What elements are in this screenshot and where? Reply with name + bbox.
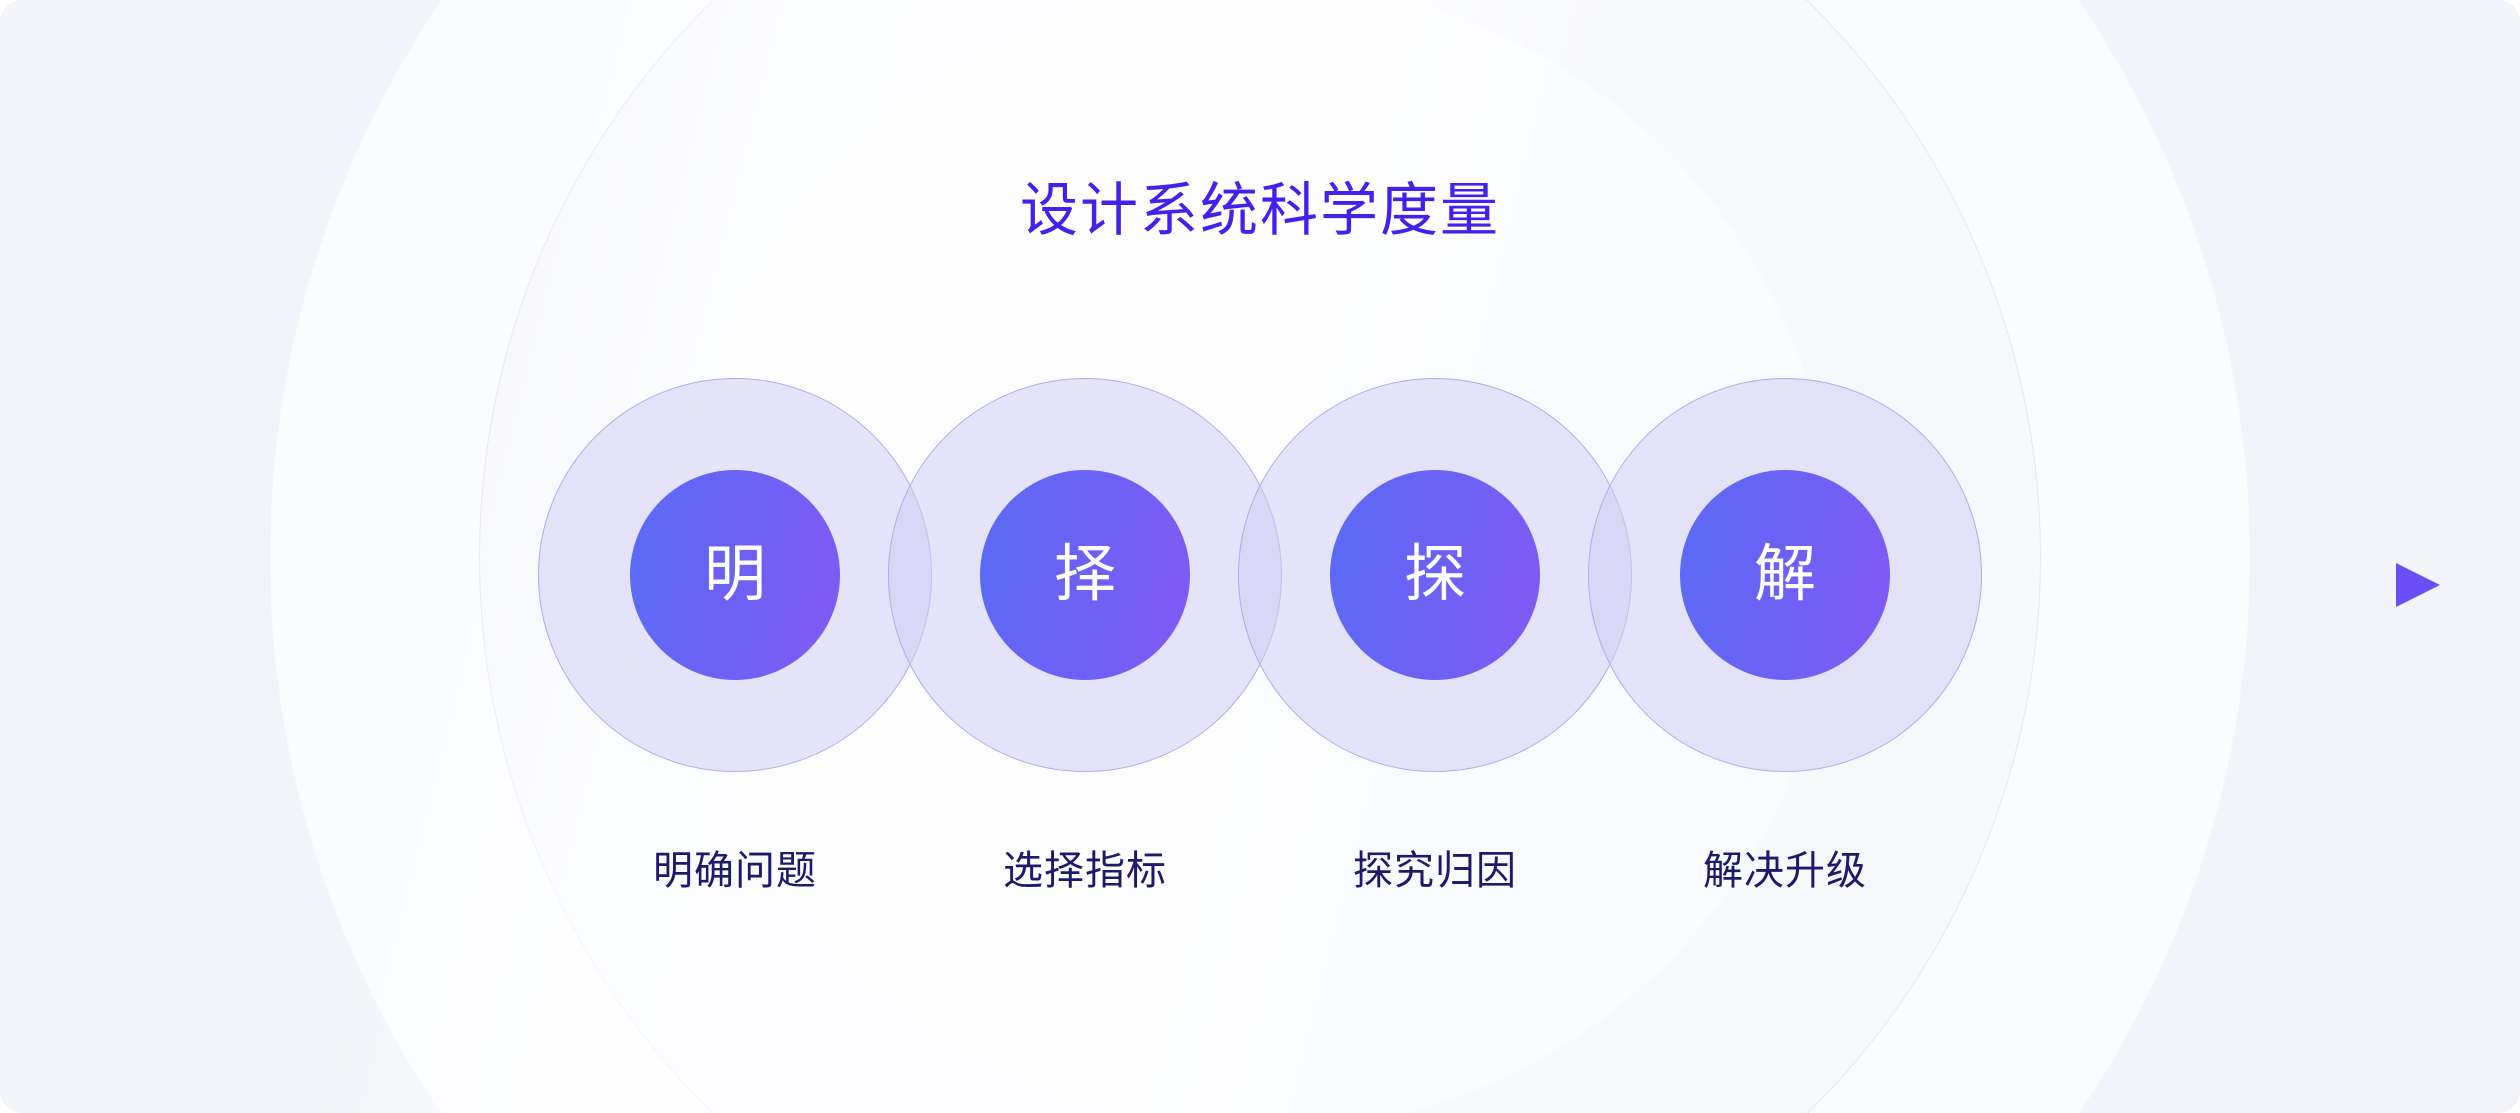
stage-4-char: 解 bbox=[1754, 544, 1816, 606]
stage-group: 明 择 探 解 bbox=[0, 0, 2520, 1113]
stage-3-core[interactable]: 探 bbox=[1330, 470, 1540, 680]
stage-2-char: 择 bbox=[1054, 544, 1116, 606]
infographic-canvas: 设计系统科学度量 明 择 探 bbox=[0, 0, 2520, 1113]
stage-3-label: 探究归因 bbox=[1255, 845, 1615, 897]
stage-1-label: 明确问题 bbox=[555, 845, 915, 897]
stage-2-label: 选择指标 bbox=[905, 845, 1265, 897]
stage-3-char: 探 bbox=[1404, 544, 1466, 606]
stage-4-core[interactable]: 解 bbox=[1680, 470, 1890, 680]
stage-2-core[interactable]: 择 bbox=[980, 470, 1190, 680]
stage-4-label: 解决升级 bbox=[1605, 845, 1965, 897]
stage-1-core[interactable]: 明 bbox=[630, 470, 840, 680]
stage-1-char: 明 bbox=[704, 544, 766, 606]
